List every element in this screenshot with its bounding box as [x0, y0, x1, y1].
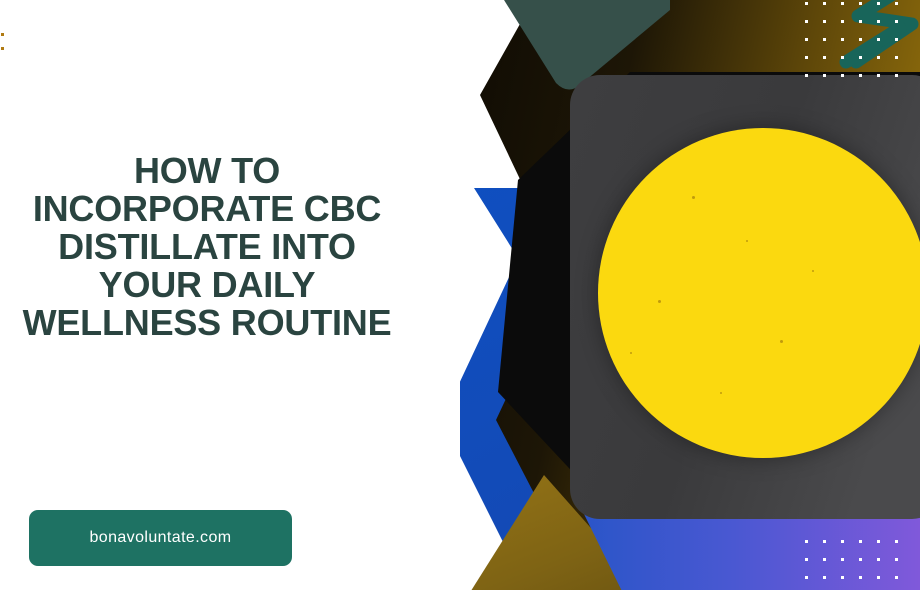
grid-dot	[841, 576, 844, 579]
grid-dot	[841, 2, 844, 5]
grid-dot	[895, 558, 898, 561]
grid-dot	[895, 20, 898, 23]
grid-dot	[841, 56, 844, 59]
grid-dot	[823, 20, 826, 23]
site-url-badge[interactable]: bonavoluntate.com	[29, 510, 292, 566]
grid-dot	[823, 74, 826, 77]
grid-dot	[877, 558, 880, 561]
grid-dot	[823, 2, 826, 5]
grid-dot	[859, 558, 862, 561]
grid-dot	[895, 56, 898, 59]
grid-dot	[805, 558, 808, 561]
product-panel	[570, 75, 920, 519]
grid-dot	[859, 540, 862, 543]
grid-dot	[859, 38, 862, 41]
grid-dot	[805, 56, 808, 59]
edge-dot	[1, 47, 4, 50]
grid-dot	[895, 38, 898, 41]
grid-dot	[895, 576, 898, 579]
grid-dot	[841, 74, 844, 77]
site-url-label: bonavoluntate.com	[89, 529, 231, 547]
grid-dot	[841, 20, 844, 23]
grid-dot	[859, 74, 862, 77]
grid-dot	[805, 576, 808, 579]
grid-dot	[805, 2, 808, 5]
left-edge-dots	[0, 33, 6, 65]
grid-dot	[823, 38, 826, 41]
grid-dot	[877, 20, 880, 23]
left-text-panel: How to Incorporate CBC Distillate Into Y…	[0, 0, 460, 590]
grid-dot	[823, 558, 826, 561]
grid-dot	[877, 56, 880, 59]
grid-dot	[841, 540, 844, 543]
artwork-graphic	[460, 0, 920, 590]
page-title: How to Incorporate CBC Distillate Into Y…	[12, 152, 402, 342]
grid-dot	[895, 2, 898, 5]
grid-dot	[877, 576, 880, 579]
grid-dot	[805, 38, 808, 41]
grid-dot	[859, 576, 862, 579]
grid-dot	[805, 540, 808, 543]
top-right-dots	[805, 2, 920, 97]
grid-dot	[859, 2, 862, 5]
grid-dot	[841, 558, 844, 561]
grid-dot	[877, 74, 880, 77]
grid-dot	[877, 38, 880, 41]
bottom-right-dots	[805, 540, 920, 590]
grid-dot	[805, 74, 808, 77]
grid-dot	[805, 20, 808, 23]
grid-dot	[877, 2, 880, 5]
grid-dot	[841, 38, 844, 41]
grid-dot	[877, 540, 880, 543]
grid-dot	[859, 20, 862, 23]
grid-dot	[859, 56, 862, 59]
grid-dot	[823, 56, 826, 59]
grid-dot	[823, 576, 826, 579]
grid-dot	[895, 74, 898, 77]
edge-dot	[1, 33, 4, 36]
grid-dot	[823, 540, 826, 543]
poster-canvas: How to Incorporate CBC Distillate Into Y…	[0, 0, 920, 590]
grid-dot	[895, 540, 898, 543]
